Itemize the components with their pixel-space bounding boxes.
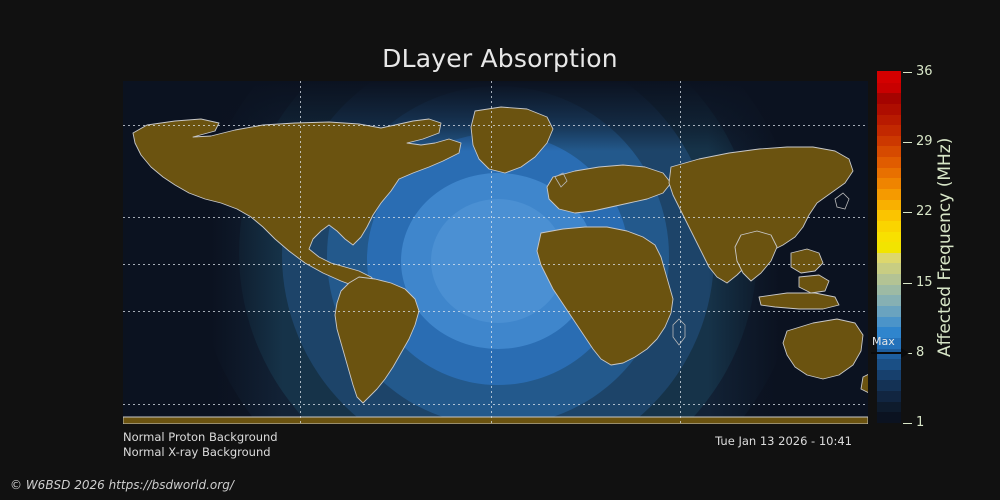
land-antarctica (123, 417, 868, 424)
land-indonesia (759, 293, 839, 309)
colorbar-segment (877, 359, 901, 370)
colorbar-segment (877, 369, 901, 380)
map-canvas[interactable] (123, 81, 868, 424)
land-greenland (471, 107, 553, 173)
gridline-lon-60w (491, 81, 492, 424)
world-landmasses (123, 81, 868, 424)
max-marker-label: Max (872, 335, 895, 348)
colorbar[interactable] (877, 72, 901, 423)
colorbar-segment (877, 295, 901, 306)
gridline-lon-0 (680, 81, 681, 424)
colorbar-segment (877, 199, 901, 210)
colorbar-tick-mark (903, 142, 912, 143)
colorbar-tick-mark (903, 72, 912, 73)
land-india (735, 231, 777, 281)
colorbar-segment (877, 210, 901, 221)
land-southeast-asia (791, 249, 823, 273)
land-new-zealand (861, 373, 868, 393)
colorbar-segment (877, 114, 901, 125)
colorbar-tick-mark (903, 283, 912, 284)
app-root: DLayer Absorption (0, 0, 1000, 500)
colorbar-segment (877, 82, 901, 93)
colorbar-tick-label: 36 (916, 64, 933, 79)
colorbar-tick-label: 15 (916, 275, 933, 290)
land-australia (783, 319, 863, 379)
colorbar-segment (877, 380, 901, 391)
timestamp: Tue Jan 13 2026 - 10:41 (715, 434, 852, 448)
colorbar-segment (877, 125, 901, 136)
colorbar-segment (877, 316, 901, 327)
colorbar-segment (877, 391, 901, 402)
colorbar-segment (877, 305, 901, 316)
colorbar-segment (877, 188, 901, 199)
colorbar-tick-label: 8 (916, 345, 924, 360)
max-marker-arrow-head (901, 348, 909, 358)
gridline-lat-60n (123, 125, 868, 126)
colorbar-tick-label: 1 (916, 415, 924, 430)
colorbar-segment (877, 93, 901, 104)
colorbar-segment (877, 263, 901, 274)
colorbar-segment (877, 274, 901, 285)
colorbar-title: Affected Frequency (MHz) (934, 72, 956, 423)
colorbar-segment (877, 135, 901, 146)
land-borneo (799, 275, 829, 293)
colorbar-segment (877, 242, 901, 253)
coastline-japan (835, 193, 849, 209)
copyright: © W6BSD 2026 https://bsdworld.org/ (10, 478, 234, 492)
gridline-lat-0 (123, 311, 868, 312)
colorbar-segment (877, 231, 901, 242)
colorbar-segment (877, 167, 901, 178)
coastline-madagascar (673, 319, 685, 345)
colorbar-segment (877, 146, 901, 157)
map-layers (123, 81, 868, 424)
gridline-lat-30s (123, 404, 868, 405)
colorbar-segment (877, 71, 901, 82)
colorbar-segment (877, 284, 901, 295)
colorbar-tick-label: 29 (916, 134, 933, 149)
colorbar-tick-label: 22 (916, 204, 933, 219)
colorbar-segment (877, 401, 901, 412)
colorbar-segment (877, 178, 901, 189)
colorbar-segment (877, 103, 901, 114)
land-africa (537, 227, 673, 365)
colorbar-segment (877, 252, 901, 263)
page-title: DLayer Absorption (0, 44, 1000, 73)
colorbar-tick-mark (903, 212, 912, 213)
gridline-lat-30n (123, 217, 868, 218)
note-xray-background: Normal X-ray Background (123, 445, 271, 459)
colorbar-segment (877, 157, 901, 168)
gridline-lon-120w (300, 81, 301, 424)
gridline-lat-15n (123, 264, 868, 265)
land-south-america (335, 277, 419, 403)
colorbar-max-marker: Max (869, 335, 909, 359)
colorbar-segment (877, 220, 901, 231)
max-marker-arrow-line (871, 352, 905, 354)
colorbar-segment (877, 412, 901, 423)
land-europe (547, 165, 671, 213)
note-proton-background: Normal Proton Background (123, 430, 278, 444)
colorbar-tick-mark (903, 423, 912, 424)
